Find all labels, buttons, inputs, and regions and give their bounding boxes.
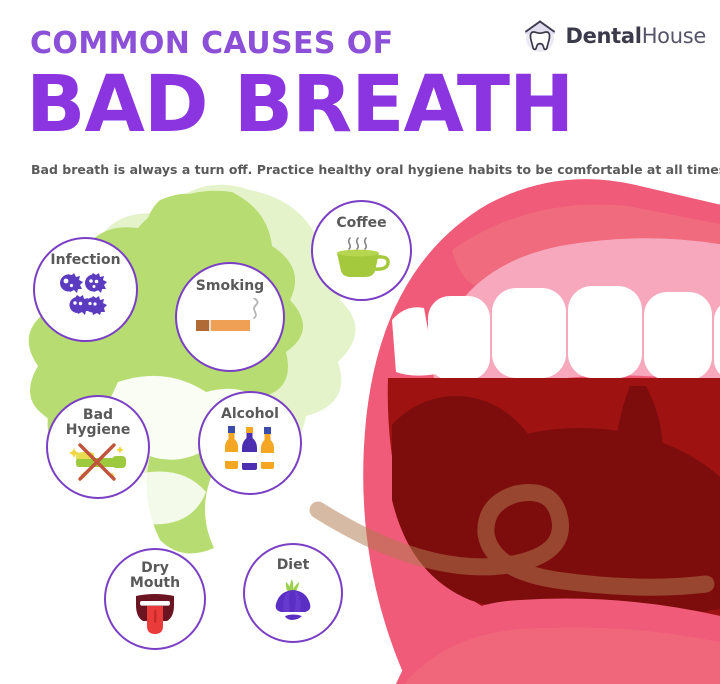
garlic-icon — [264, 577, 322, 621]
kicker-text: COMMON CAUSES OF — [30, 26, 394, 61]
header: COMMON CAUSES OF BAD BREATH Bad breath i… — [0, 0, 720, 190]
tooth-house-icon — [523, 18, 557, 54]
bottle-left — [225, 426, 238, 469]
cause-label-coffee: Coffee — [336, 216, 386, 231]
cigarette-icon — [194, 298, 266, 338]
cause-label-diet: Diet — [277, 558, 310, 573]
cause-label-smoking: Smoking — [196, 279, 264, 294]
garlic-sprout — [286, 579, 299, 592]
cause-alcohol[interactable]: Alcohol — [198, 391, 302, 495]
cause-bad-hygiene[interactable]: Bad Hygiene — [46, 395, 150, 499]
cause-coffee[interactable]: Coffee — [311, 200, 412, 301]
bottle-middle — [242, 427, 257, 470]
coffee-cup-icon — [329, 235, 395, 281]
teeth-row — [392, 286, 720, 380]
bottle-right — [261, 427, 274, 469]
cause-label-bad-hygiene: Bad Hygiene — [66, 408, 131, 438]
brand-logo[interactable]: DentalHouse — [523, 18, 706, 54]
cause-diet[interactable]: Diet — [243, 543, 343, 643]
brand-name-light: House — [642, 24, 706, 48]
cause-infection[interactable]: Infection — [33, 237, 138, 342]
page-title: BAD BREATH — [26, 66, 573, 144]
cause-smoking[interactable]: Smoking — [175, 262, 285, 372]
subtitle-text: Bad breath is always a turn off. Practic… — [31, 162, 720, 177]
cause-label-alcohol: Alcohol — [221, 407, 279, 422]
brand-name-bold: Dental — [565, 24, 641, 48]
tongue-icon — [129, 593, 181, 635]
brand-name: DentalHouse — [565, 24, 706, 48]
bottles-icon — [219, 426, 281, 470]
cause-label-infection: Infection — [50, 253, 120, 268]
bad-breath-infographic: COMMON CAUSES OF BAD BREATH Bad breath i… — [0, 0, 720, 684]
cause-dry-mouth[interactable]: Dry Mouth — [104, 548, 206, 650]
cause-label-dry-mouth: Dry Mouth — [130, 561, 180, 591]
germs-icon — [55, 272, 117, 316]
no-toothbrush-icon — [66, 440, 130, 482]
